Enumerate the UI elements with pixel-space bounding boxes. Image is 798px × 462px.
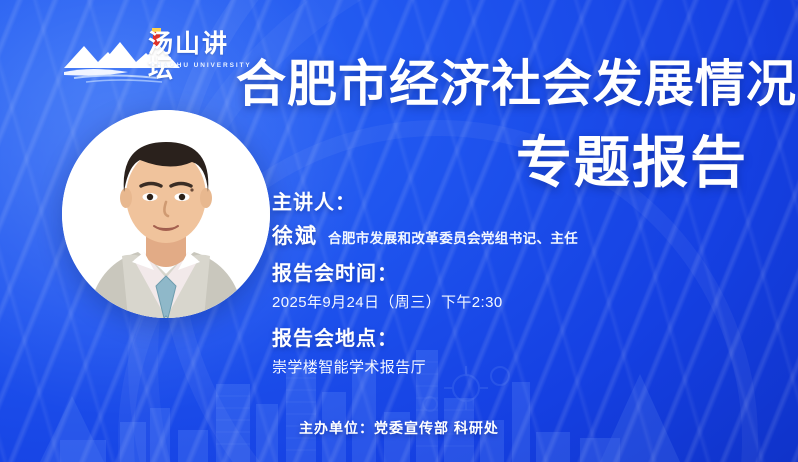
time-label: 报告会时间： [272, 259, 742, 289]
brand-logo: 汤山讲坛 CHAOHU UNIVERSITY [62, 22, 237, 84]
speaker-job-title: 合肥市发展和改革委员会党组书记、主任 [328, 227, 578, 247]
place-label: 报告会地点： [272, 324, 742, 354]
page-title-line2: 专题报告 [516, 133, 748, 192]
page-title-line1: 合肥市经济社会发展情况 [236, 58, 797, 111]
place-value: 崇学楼智能学术报告厅 [272, 354, 742, 383]
organizer-text: 主办单位：党委宣传部 科研处 [0, 418, 798, 438]
logo-wordmark: 汤山讲坛 [148, 32, 237, 82]
poster-canvas: 汤山讲坛 CHAOHU UNIVERSITY [0, 0, 798, 462]
speaker-label: 主讲人： [272, 188, 742, 218]
portrait-illustration [62, 110, 270, 318]
speaker-row: 徐斌 合肥市发展和改革委员会党组书记、主任 [272, 220, 742, 250]
speaker-portrait [62, 110, 270, 318]
time-value: 2025年9月24日（周三）下午2:30 [272, 289, 742, 318]
speaker-name: 徐斌 [272, 220, 318, 250]
event-info: 主讲人： 徐斌 合肥市发展和改革委员会党组书记、主任 报告会时间： 2025年9… [272, 188, 742, 382]
